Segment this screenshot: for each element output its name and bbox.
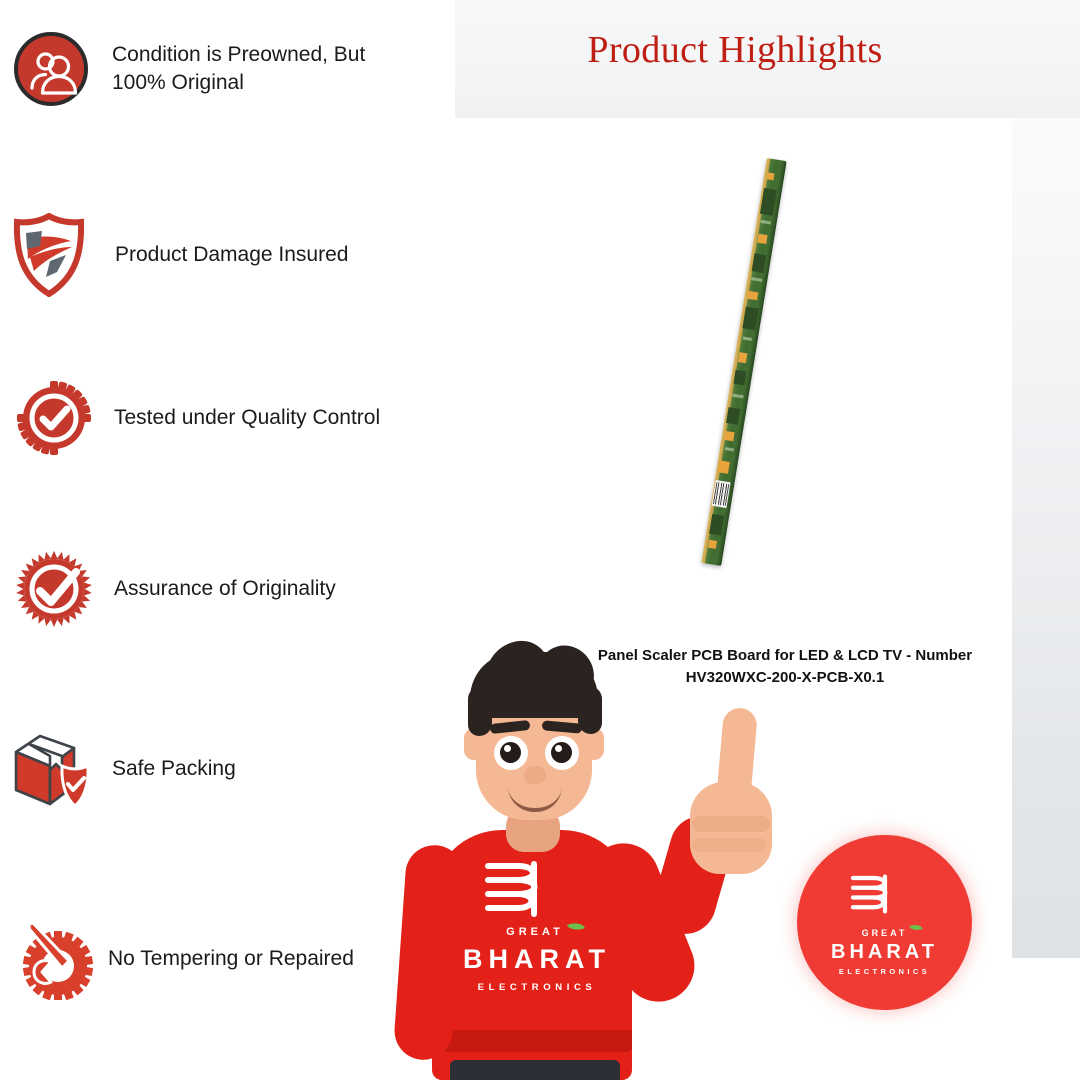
feature-label: No Tempering or Repaired (108, 945, 354, 973)
brand-badge: GREAT BHARAT ELECTRONICS (797, 835, 972, 1010)
feature-label: Assurance of Originality (114, 575, 336, 603)
leaf-icon (909, 922, 923, 932)
right-gradient-strip (1012, 118, 1080, 958)
feature-label: Product Damage Insured (115, 241, 348, 269)
badge-great: GREAT (862, 928, 908, 938)
quality-badge-icon (16, 380, 92, 456)
pcb-board-strip (701, 158, 786, 566)
shield-icon (10, 213, 88, 297)
badge-monogram (846, 870, 924, 918)
mascot-left-eye (494, 736, 528, 770)
badge-bharat: BHARAT (831, 941, 938, 964)
feature-item-condition: Condition is Preowned, But 100% Original (14, 32, 365, 106)
feature-label: Safe Packing (112, 755, 236, 783)
feature-label: Condition is Preowned, But 100% Original (112, 41, 365, 96)
feature-item-packing: Safe Packing (12, 730, 236, 808)
feature-item-originality: Assurance of Originality (16, 551, 336, 627)
mascot-nose (524, 766, 546, 784)
product-image (660, 165, 830, 565)
shirt-logo-great: GREAT (462, 926, 608, 938)
gear-wrench-icon (14, 920, 94, 998)
mascot-sideburn-left (468, 686, 492, 736)
mascot-knuckle-line-2 (692, 838, 766, 852)
feature-label: Tested under Quality Control (114, 404, 380, 432)
mascot-character: GREAT BHARAT ELECTRONICS (390, 630, 820, 1080)
mascot-knuckle-line (692, 816, 770, 832)
badge-electronics: ELECTRONICS (839, 967, 930, 976)
users-icon (14, 32, 88, 106)
feature-item-quality: Tested under Quality Control (16, 380, 380, 456)
shirt-logo-electronics: ELECTRONICS (442, 982, 632, 993)
mascot-right-eye (545, 736, 579, 770)
package-shield-icon (12, 730, 98, 808)
page-title: Product Highlights (455, 28, 1015, 72)
feature-item-insured: Product Damage Insured (10, 213, 348, 297)
product-highlights-graphic: Product Highlights Condition is Preowned… (0, 0, 1080, 1080)
feature-item-no-tempering: No Tempering or Repaired (14, 920, 354, 998)
mascot-shirt-hem (432, 1030, 632, 1052)
shirt-logo-bharat: BHARAT (442, 944, 632, 975)
shirt-logo-monogram (478, 858, 590, 920)
originality-badge-icon (16, 551, 92, 627)
mascot-trousers (450, 1060, 620, 1080)
